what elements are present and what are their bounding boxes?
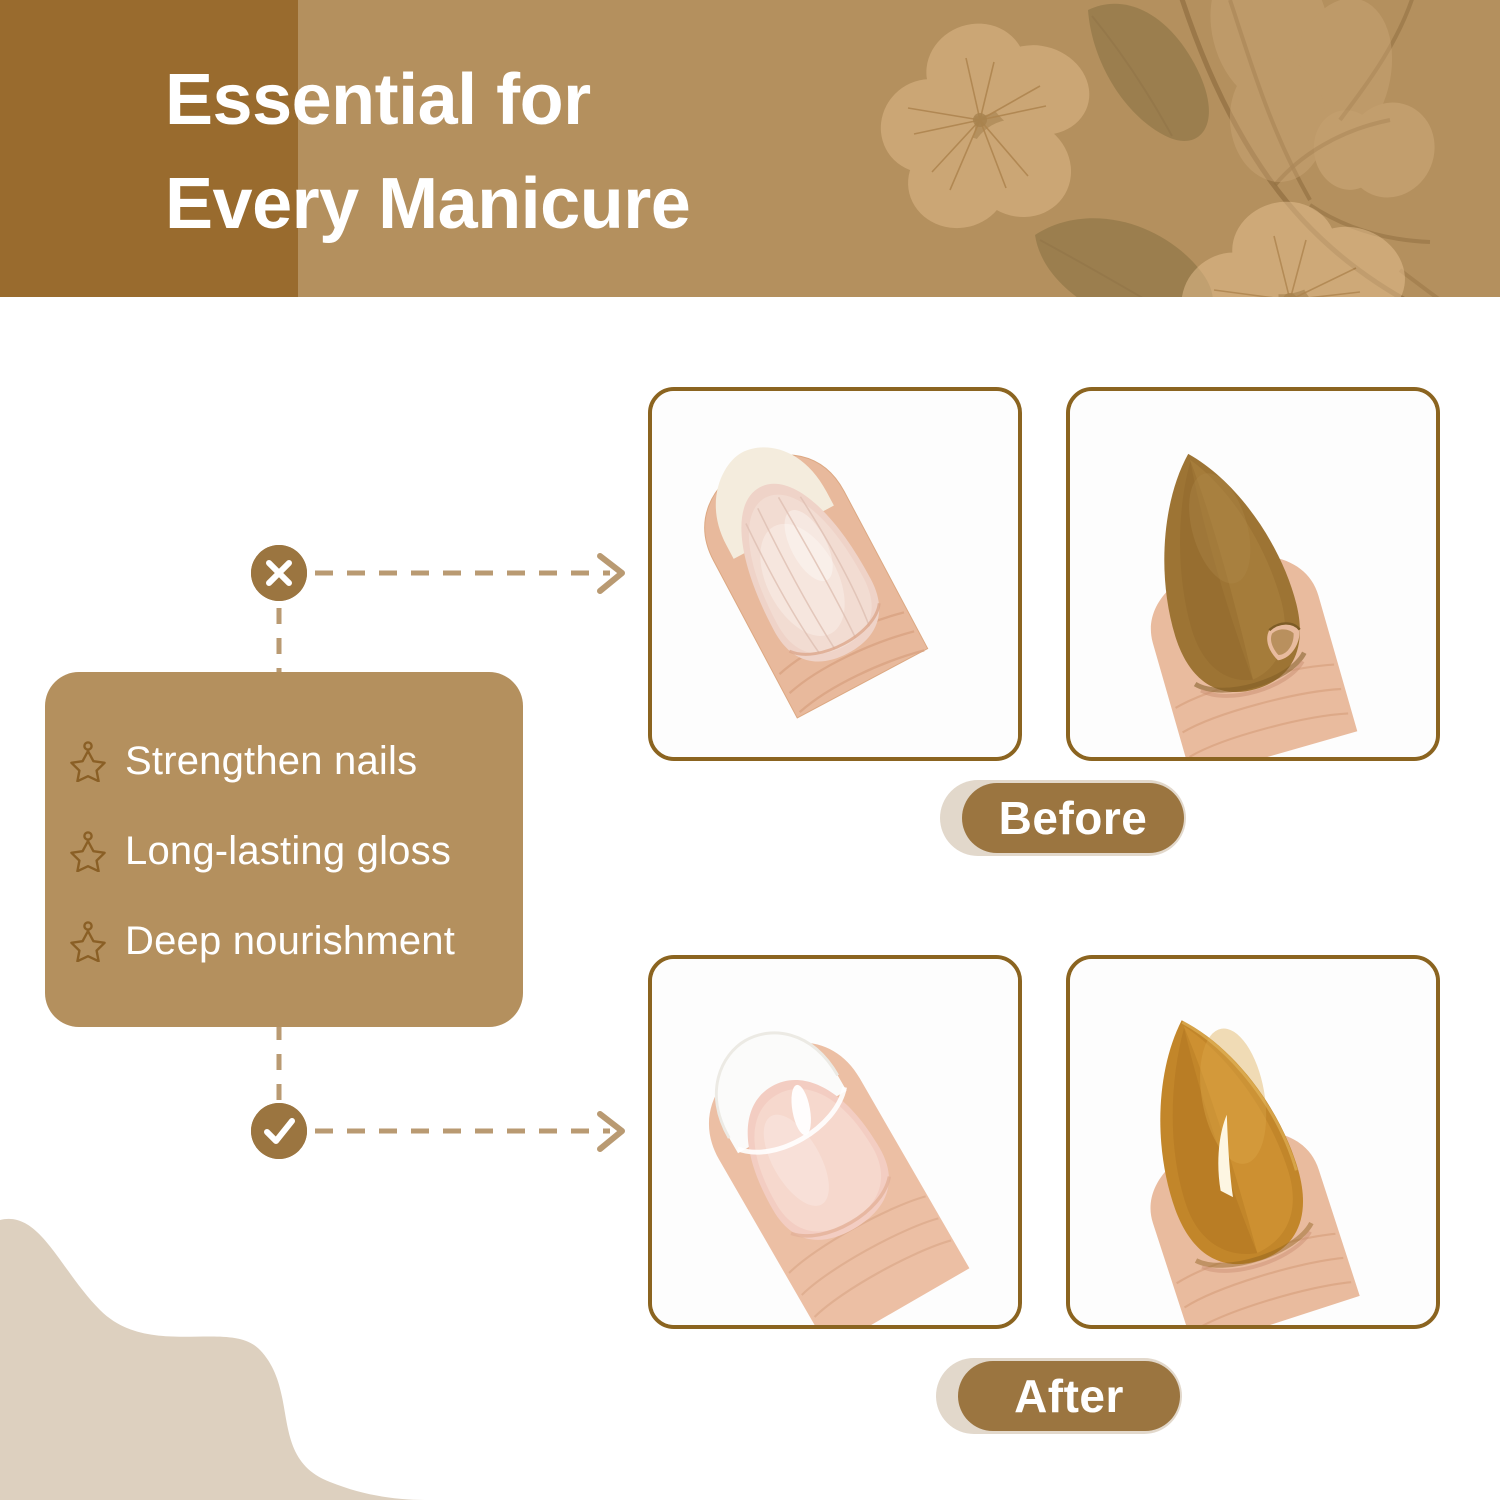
chipped-brown-polish-nail-photo	[1070, 391, 1436, 757]
photo-panel-before-natural	[648, 387, 1022, 761]
header-banner: Essential for Every Manicure	[0, 0, 1500, 297]
positive-marker	[251, 1103, 307, 1159]
star-charm-icon	[67, 740, 109, 782]
glossy-caramel-nail-photo	[1070, 959, 1436, 1325]
bare-natural-nail-photo	[652, 391, 1018, 757]
list-item: Strengthen nails	[67, 716, 523, 806]
negative-marker	[251, 545, 307, 601]
list-item-label: Deep nourishment	[125, 919, 455, 964]
x-icon	[251, 545, 307, 601]
photo-panel-after-glossy	[1066, 955, 1440, 1329]
french-manicure-nail-photo	[652, 959, 1018, 1325]
badge-label: After	[1014, 1373, 1124, 1419]
page-title: Essential for Every Manicure	[165, 48, 1065, 257]
badge-label: Before	[999, 795, 1148, 841]
photo-panel-after-french	[648, 955, 1022, 1329]
list-item: Long-lasting gloss	[67, 806, 523, 896]
list-item: Deep nourishment	[67, 896, 523, 986]
corner-decor-blob	[0, 1210, 430, 1500]
check-icon	[251, 1103, 307, 1159]
badge-body: After	[958, 1361, 1180, 1431]
photo-panel-before-chipped	[1066, 387, 1440, 761]
badge-body: Before	[962, 783, 1184, 853]
star-charm-icon	[67, 830, 109, 872]
list-item-label: Long-lasting gloss	[125, 829, 451, 874]
benefits-card: Strengthen nails Long-lasting gloss Deep…	[45, 672, 523, 1027]
list-item-label: Strengthen nails	[125, 739, 417, 784]
star-charm-icon	[67, 920, 109, 962]
